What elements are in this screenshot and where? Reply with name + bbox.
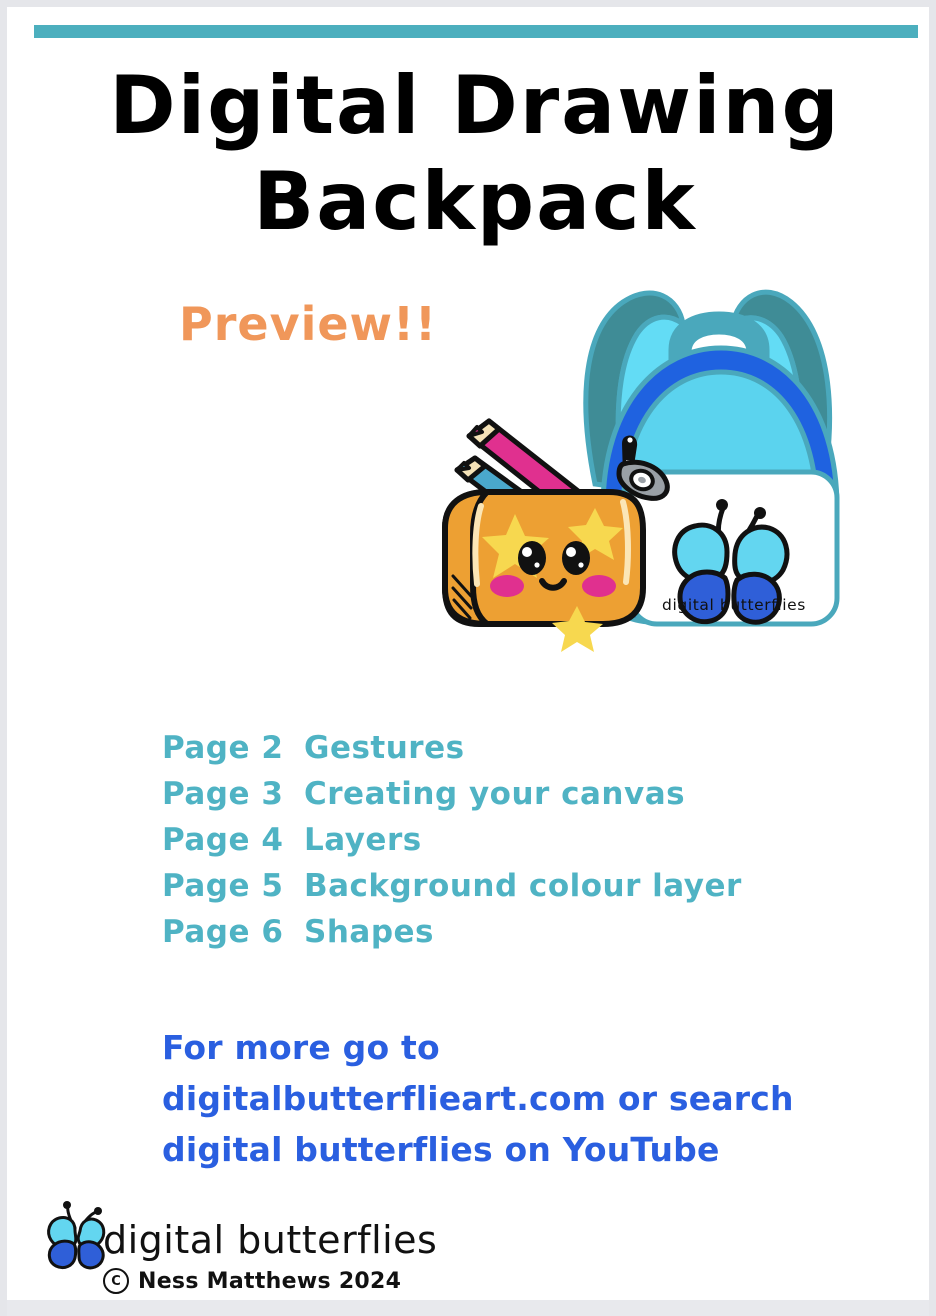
page-title: Digital Drawing Backpack [7,58,936,250]
document-page: Digital Drawing Backpack Preview!! [0,0,936,1316]
toc-entry-label: Gestures [304,730,862,766]
toc-page-number: Page 4 [162,822,304,858]
blush-right [582,575,616,597]
teal-divider-rule [34,25,918,38]
table-row[interactable]: Page 5 Background colour layer [162,868,862,914]
footer-branding: digital butterflies C Ness Matthews 2024 [41,1196,461,1300]
preview-badge: Preview!! [179,296,437,352]
title-line-2: Backpack [7,154,936,250]
pocket-brand-caption: digital butterflies [662,596,806,614]
table-of-contents: Page 2 Gestures Page 3 Creating your can… [162,730,862,960]
table-row[interactable]: Page 2 Gestures [162,730,862,776]
toc-entry-label: Layers [304,822,862,858]
promo-line-3[interactable]: digital butterflies on YouTube [162,1124,902,1175]
footer-brand-text: digital butterflies [103,1218,437,1262]
copyright-icon: C [103,1268,129,1294]
blush-left [490,575,524,597]
toc-page-number: Page 5 [162,868,304,904]
copyright-line: C Ness Matthews 2024 [103,1268,401,1294]
table-row[interactable]: Page 6 Shapes [162,914,862,960]
table-row[interactable]: Page 4 Layers [162,822,862,868]
toc-entry-label: Shapes [304,914,862,950]
table-row[interactable]: Page 3 Creating your canvas [162,776,862,822]
toc-page-number: Page 6 [162,914,304,950]
promo-line-2[interactable]: digitalbutterflieart.com or search [162,1073,902,1124]
toc-entry-label: Background colour layer [304,868,862,904]
promo-line-1: For more go to [162,1022,902,1073]
promo-block: For more go to digitalbutterflieart.com … [162,1022,902,1175]
toc-page-number: Page 2 [162,730,304,766]
title-line-1: Digital Drawing [7,58,936,154]
copyright-text: Ness Matthews 2024 [138,1269,401,1294]
backpack-illustration: digital butterflies [427,276,907,660]
toc-entry-label: Creating your canvas [304,776,862,812]
toc-page-number: Page 3 [162,776,304,812]
